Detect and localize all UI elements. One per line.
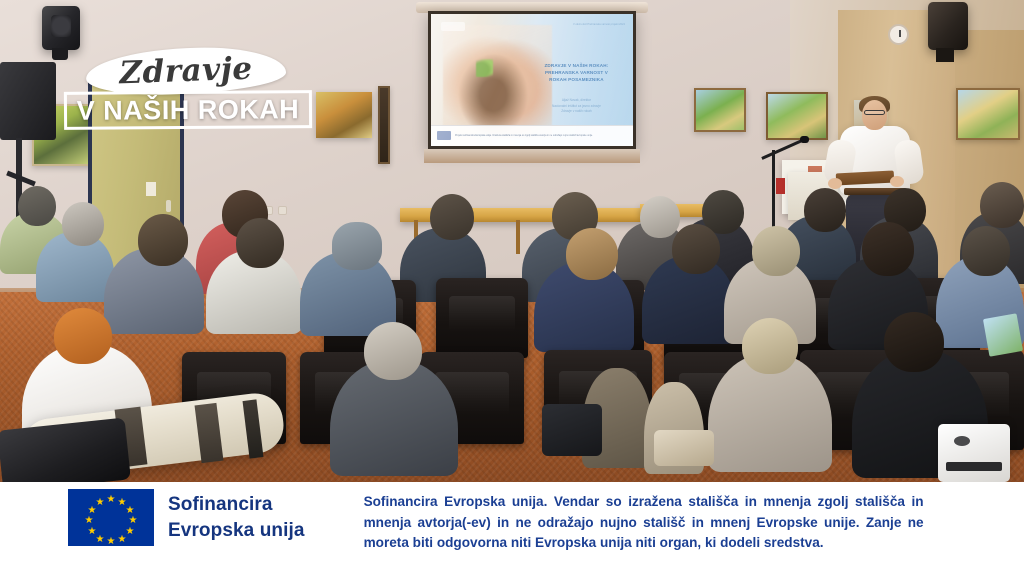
door-sign xyxy=(146,182,156,196)
slide-image-sprout xyxy=(476,59,493,77)
presenter-hand-left xyxy=(828,178,842,189)
logo-boxed-words: V NAŠIH ROKAH xyxy=(64,90,312,130)
bag-on-floor xyxy=(654,430,714,466)
eu-flag-icon: ★ ★ ★ ★ ★ ★ ★ ★ ★ ★ ★ ★ xyxy=(68,489,154,546)
poster-accent-left xyxy=(776,178,785,194)
painting-landscape-left xyxy=(694,88,746,132)
table-leg xyxy=(516,220,520,254)
projector-device xyxy=(938,424,1010,482)
wall-outlet xyxy=(278,206,287,215)
projection-screen: V okviru EU Prehranska varnost projekt 2… xyxy=(428,11,636,149)
campaign-logo: Zdravje V NAŠIH ROKAH xyxy=(58,46,318,134)
chair xyxy=(436,278,528,358)
screen-lower-wall xyxy=(424,149,640,163)
painting-landscape-right xyxy=(956,88,1020,140)
slide-subtitle: Aljaž Novak, direktor Nacionalni inštitu… xyxy=(532,98,621,113)
slide-logo xyxy=(441,22,465,31)
painting-landscape-center xyxy=(766,92,828,140)
funding-band: ★ ★ ★ ★ ★ ★ ★ ★ ★ ★ ★ ★ Sofinancira Evro… xyxy=(0,482,1024,585)
glasses-icon xyxy=(864,110,885,115)
projector-panel xyxy=(946,462,1002,471)
bag-on-floor xyxy=(542,404,602,456)
painting-narrow-dark xyxy=(378,86,390,164)
funding-disclaimer: Sofinancira Evropska unija. Vendar so iz… xyxy=(364,492,924,554)
wall-clock-icon xyxy=(888,24,909,45)
event-photo: V okviru EU Prehranska varnost projekt 2… xyxy=(0,0,1024,482)
microphone-icon xyxy=(800,136,809,143)
slide-eu-flag-icon xyxy=(437,131,451,140)
slide-title: ZDRAVJE V NAŠIH ROKAH: PREHRANSKA VARNOS… xyxy=(526,62,627,83)
speaker-bracket-right xyxy=(936,48,954,62)
speaker-icon-wall-left xyxy=(42,6,80,50)
presenter-hand-right xyxy=(890,176,904,187)
screenshot-root: V okviru EU Prehranska varnost projekt 2… xyxy=(0,0,1024,585)
speaker-icon-wall-right xyxy=(928,2,968,50)
speaker-icon-on-stand xyxy=(0,62,56,140)
logo-script-word: Zdravje xyxy=(85,47,286,96)
slide-top-right-text: V okviru EU Prehranska varnost projekt 2… xyxy=(568,23,625,27)
projector-lens-icon xyxy=(954,436,970,446)
presenter-head xyxy=(862,100,887,130)
eu-logo-block: ★ ★ ★ ★ ★ ★ ★ ★ ★ ★ ★ ★ Sofinancira Evro… xyxy=(68,489,305,546)
slide-footer: Projekt sofinancira Evropska unija. Izra… xyxy=(431,125,633,146)
slide-footer-text: Projekt sofinancira Evropska unija. Izra… xyxy=(455,134,627,138)
brochure xyxy=(983,313,1023,356)
painting-still-life xyxy=(316,92,372,138)
eu-logo-text: Sofinancira Evropska unija xyxy=(168,492,305,542)
door-handle xyxy=(166,200,171,212)
